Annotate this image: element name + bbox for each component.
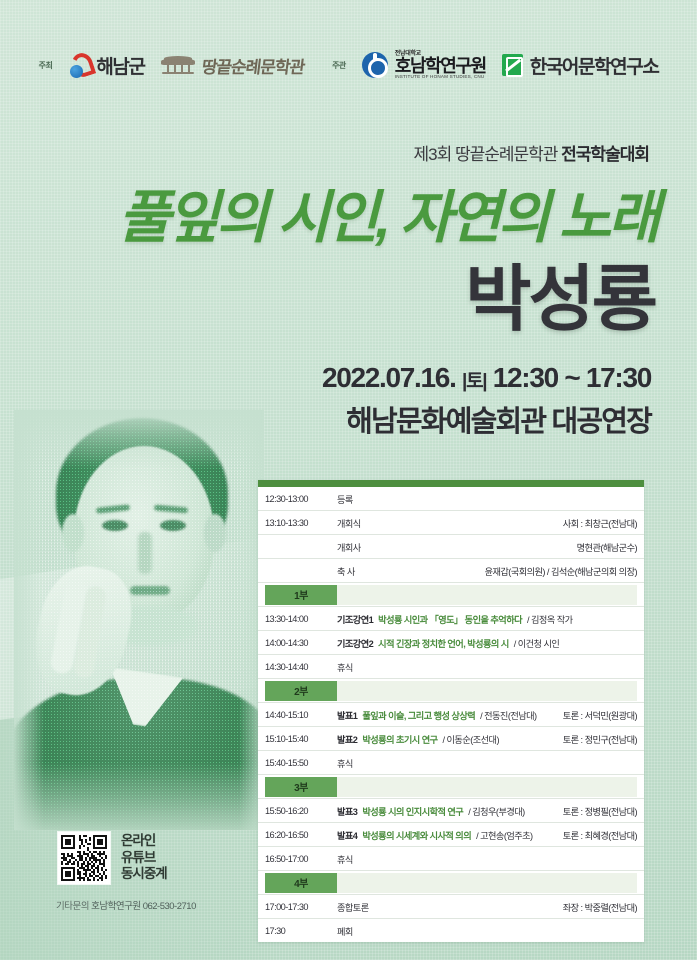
schedule-section-filler xyxy=(337,585,637,605)
organizer-label: 주관 xyxy=(332,60,346,71)
schedule-detail-cell: 기조강연2시적 긴장과 정치한 언어, 박성룡의 시/ 이건청 시인 xyxy=(330,631,644,655)
program-schedule-table: 12:30-13:00등록13:10-13:30개회식사회 : 최창근(전남대)… xyxy=(258,480,644,942)
schedule-time-cell: 16:50-17:00 xyxy=(258,847,330,871)
portrait-mouth xyxy=(130,586,170,595)
schedule-time-cell: 15:40-15:50 xyxy=(258,751,330,775)
logo-honam-sub: INSTITUTE OF HONAM STUDIES, CNU xyxy=(395,75,486,80)
schedule-time-cell: 14:00-14:30 xyxy=(258,631,330,655)
event-subtitle: 제3회 땅끝순례문학관 전국학술대회 xyxy=(413,140,649,165)
portrait-brow-left xyxy=(96,504,130,514)
event-venue: 해남문화예술회관 대공연장 xyxy=(346,398,651,440)
host-label: 주최 xyxy=(39,60,53,71)
schedule-time-cell: 15:50-16:20 xyxy=(258,799,330,823)
kll-square-icon xyxy=(502,54,523,76)
schedule-session-tag: 발표1 xyxy=(337,708,357,722)
schedule-session-tag: 발표2 xyxy=(337,732,357,746)
schedule-session-tag: 발표3 xyxy=(337,804,357,818)
portrait-brow-right xyxy=(154,505,188,514)
schedule-time-cell: 17:00-17:30 xyxy=(258,895,330,919)
honam-circle-icon xyxy=(362,52,388,78)
qr-code-svg xyxy=(61,835,107,881)
schedule-topic: 박성룡의 초기시 연구 xyxy=(362,732,437,746)
schedule-time-cell: 12:30-13:00 xyxy=(258,487,330,511)
event-datetime: 2022.07.16. |토| 12:30 ~ 17:30 xyxy=(322,362,651,394)
schedule-presenter: / 김정옥 작가 xyxy=(527,612,573,626)
event-subtitle-bold: 전국학술대회 xyxy=(561,145,649,164)
schedule-topic: 풀잎과 이슬, 그리고 행성 상상력 xyxy=(362,708,475,722)
logo-haenam-label: 해남군 xyxy=(96,52,144,79)
schedule-detail-cell: 개회식사회 : 최창근(전남대) xyxy=(330,511,644,535)
schedule-detail-cell: 축 사윤재갑(국회의원) / 김석순(해남군의회 의장) xyxy=(330,559,644,583)
schedule-presenter: / 이동순(조선대) xyxy=(443,732,499,746)
schedule-row: 개회사명현관(해남군수) xyxy=(258,535,644,559)
poet-portrait-photo xyxy=(14,410,264,830)
schedule-presenter: 폐회 xyxy=(337,924,353,938)
schedule-detail-cell: 발표1풀잎과 이슬, 그리고 행성 상상력/ 전동진(전남대)토론 : 서덕민(… xyxy=(330,703,644,727)
portrait-chin xyxy=(102,606,198,646)
schedule-presenter: 휴식 xyxy=(337,660,353,674)
schedule-detail-cell: 등록 xyxy=(330,487,644,511)
schedule-topic: 박성룡 시인과 「영도」 동인을 추억하다 xyxy=(378,612,522,626)
logo-haenam-gun: 해남군 xyxy=(68,52,144,79)
schedule-presenter: 개회사 xyxy=(337,540,361,554)
schedule-row: 축 사윤재갑(국회의원) / 김석순(해남군의회 의장) xyxy=(258,559,644,583)
schedule-presenter: 종합토론 xyxy=(337,900,369,914)
schedule-detail-cell: 발표3박성룡 시의 인지시학적 연구/ 김청우(부경대)토론 : 정병필(전남대… xyxy=(330,799,644,823)
schedule-time-cell: 13:10-13:30 xyxy=(258,511,330,535)
schedule-time-cell xyxy=(258,535,330,559)
schedule-section-row: 4부 xyxy=(258,871,644,895)
schedule-section-filler xyxy=(337,777,637,797)
event-date: 2022.07.16. xyxy=(322,362,456,393)
schedule-session-tag: 발표4 xyxy=(337,828,357,842)
stream-label: 온라인 유튜브 동시중계 xyxy=(121,833,167,882)
portrait-edge-fade xyxy=(14,410,264,830)
schedule-role-note: 명현관(해남군수) xyxy=(577,540,637,554)
event-day-of-week: |토| xyxy=(462,371,486,392)
schedule-time-cell: 15:10-15:40 xyxy=(258,727,330,751)
contact-value: 호남학연구원 062-530-2710 xyxy=(91,901,196,912)
event-subtitle-prefix: 제3회 땅끝순례문학관 xyxy=(413,145,561,164)
stream-line-2: 유튜브 xyxy=(121,850,155,865)
schedule-section-row: 2부 xyxy=(258,679,644,703)
schedule-role-note: 윤재갑(국회의원) / 김석순(해남군의회 의장) xyxy=(485,564,637,578)
portrait-nose xyxy=(138,532,152,574)
logo-literature-hall-label: 땅끝순례문학관 xyxy=(200,53,306,78)
schedule-detail-cell: 휴식 xyxy=(330,847,644,871)
contact-line: 기타문의 호남학연구원 062-530-2710 xyxy=(56,898,196,912)
schedule-presenter: 휴식 xyxy=(337,756,353,770)
schedule-presenter: 축 사 xyxy=(337,564,355,578)
schedule-detail-cell: 발표4박성룡의 시세계와 시사적 의의/ 고현송(엄주초)토론 : 최혜경(전남… xyxy=(330,823,644,847)
schedule-row: 17:30폐회 xyxy=(258,919,644,943)
schedule-topic: 박성룡의 시세계와 시사적 의의 xyxy=(362,828,471,842)
portrait-ear-left xyxy=(62,514,84,552)
schedule-presenter: / 이건청 시인 xyxy=(514,636,560,650)
schedule-section-row: 1부 xyxy=(258,583,644,607)
portrait-hair xyxy=(56,418,228,568)
portrait-face xyxy=(74,446,214,622)
contact-lead: 기타문의 xyxy=(56,901,89,912)
schedule-top-bar xyxy=(258,480,644,487)
schedule-topic: 박성룡 시의 인지시학적 연구 xyxy=(362,804,463,818)
poet-name: 박성룡 xyxy=(465,240,655,345)
pavilion-icon xyxy=(161,55,195,75)
schedule-row: 12:30-13:00등록 xyxy=(258,487,644,511)
logo-literature-hall: 땅끝순례문학관 xyxy=(161,53,304,78)
schedule-detail-cell: 발표2박성룡의 초기시 연구/ 이동순(조선대)토론 : 정민구(전남대) xyxy=(330,727,644,751)
schedule-section-filler xyxy=(337,873,637,893)
schedule-section-chip: 3부 xyxy=(265,777,337,797)
haenam-swirl-icon xyxy=(68,53,89,78)
logo-korean-lang-lit-institute: 한국어문학연구소 xyxy=(502,52,659,79)
schedule-time-cell xyxy=(258,559,330,583)
schedule-role-note: 토론 : 정민구(전남대) xyxy=(563,732,637,746)
schedule-section-chip: 1부 xyxy=(265,585,337,605)
schedule-role-note: 토론 : 최혜경(전남대) xyxy=(563,828,637,842)
schedule-detail-cell: 개회사명현관(해남군수) xyxy=(330,535,644,559)
stream-line-3: 동시중계 xyxy=(121,866,167,881)
schedule-time-cell: 13:30-14:00 xyxy=(258,607,330,631)
schedule-detail-cell: 기조강연1박성룡 시인과 「영도」 동인을 추억하다/ 김정옥 작가 xyxy=(330,607,644,631)
schedule-row: 15:10-15:40발표2박성룡의 초기시 연구/ 이동순(조선대)토론 : … xyxy=(258,727,644,751)
schedule-time-cell: 17:30 xyxy=(258,919,330,943)
schedule-role-note: 토론 : 서덕민(원광대) xyxy=(563,708,637,722)
schedule-session-tag: 기조강연1 xyxy=(337,612,373,626)
schedule-section-row: 3부 xyxy=(258,775,644,799)
portrait-eye-right xyxy=(160,520,186,531)
schedule-presenter: 휴식 xyxy=(337,852,353,866)
schedule-role-note: 사회 : 최창근(전남대) xyxy=(563,516,637,530)
portrait-ear-right xyxy=(204,514,226,552)
schedule-presenter: 등록 xyxy=(337,492,353,506)
portrait-finger-one xyxy=(49,577,89,675)
portrait-hand xyxy=(25,558,140,704)
schedule-time-cell: 16:20-16:50 xyxy=(258,823,330,847)
schedule-section-filler xyxy=(337,681,637,701)
schedule-row: 16:50-17:00휴식 xyxy=(258,847,644,871)
schedule-presenter: / 고현송(엄주초) xyxy=(476,828,532,842)
schedule-row: 16:20-16:50발표4박성룡의 시세계와 시사적 의의/ 고현송(엄주초)… xyxy=(258,823,644,847)
schedule-time-cell: 14:30-14:40 xyxy=(258,655,330,679)
schedule-row: 13:10-13:30개회식사회 : 최창근(전남대) xyxy=(258,511,644,535)
schedule-presenter: 개회식 xyxy=(337,516,361,530)
event-time-range: 12:30 ~ 17:30 xyxy=(493,362,651,393)
schedule-row: 14:30-14:40휴식 xyxy=(258,655,644,679)
schedule-session-tag: 기조강연2 xyxy=(337,636,373,650)
logo-honam-institute: 전남대학교 호남학연구원 INSTITUTE OF HONAM STUDIES,… xyxy=(362,51,486,80)
program-schedule-body: 12:30-13:00등록13:10-13:30개회식사회 : 최창근(전남대)… xyxy=(258,480,644,942)
poster-canvas: 주최 해남군 땅끝순례문학관 주관 전남대학교 호남학연구원 xyxy=(0,0,697,960)
schedule-row: 15:40-15:50휴식 xyxy=(258,751,644,775)
portrait-halftone-grain xyxy=(14,410,264,830)
schedule-row: 14:00-14:30기조강연2시적 긴장과 정치한 언어, 박성룡의 시/ 이… xyxy=(258,631,644,655)
portrait-shoulders xyxy=(14,678,264,830)
logo-honam-label: 호남학연구원 xyxy=(395,57,486,75)
schedule-section-chip: 4부 xyxy=(265,873,337,893)
schedule-detail-cell: 종합토론좌장 : 박중렬(전남대) xyxy=(330,895,644,919)
schedule-topic: 시적 긴장과 정치한 언어, 박성룡의 시 xyxy=(378,636,509,650)
schedule-presenter: / 전동진(전남대) xyxy=(480,708,536,722)
schedule-presenter: / 김청우(부경대) xyxy=(468,804,524,818)
schedule-detail-cell: 폐회 xyxy=(330,919,644,943)
schedule-role-note: 토론 : 정병필(전남대) xyxy=(563,804,637,818)
logo-kll-label: 한국어문학연구소 xyxy=(530,52,659,79)
online-stream-block: 온라인 유튜브 동시중계 xyxy=(58,832,167,884)
schedule-row: 14:40-15:10발표1풀잎과 이슬, 그리고 행성 상상력/ 전동진(전남… xyxy=(258,703,644,727)
sponsor-logo-bar: 주최 해남군 땅끝순례문학관 주관 전남대학교 호남학연구원 xyxy=(0,44,697,86)
portrait-eye-left xyxy=(102,520,128,531)
portrait-finger-two xyxy=(73,585,107,679)
schedule-detail-cell: 휴식 xyxy=(330,751,644,775)
schedule-row: 17:00-17:30종합토론좌장 : 박중렬(전남대) xyxy=(258,895,644,919)
stream-line-1: 온라인 xyxy=(121,833,155,848)
qr-code-icon[interactable] xyxy=(58,832,110,884)
schedule-detail-cell: 휴식 xyxy=(330,655,644,679)
schedule-time-cell: 14:40-15:10 xyxy=(258,703,330,727)
schedule-row: 15:50-16:20발표3박성룡 시의 인지시학적 연구/ 김청우(부경대)토… xyxy=(258,799,644,823)
schedule-row: 13:30-14:00기조강연1박성룡 시인과 「영도」 동인을 추억하다/ 김… xyxy=(258,607,644,631)
schedule-role-note: 좌장 : 박중렬(전남대) xyxy=(563,900,637,914)
schedule-section-chip: 2부 xyxy=(265,681,337,701)
portrait-collar xyxy=(103,667,184,731)
